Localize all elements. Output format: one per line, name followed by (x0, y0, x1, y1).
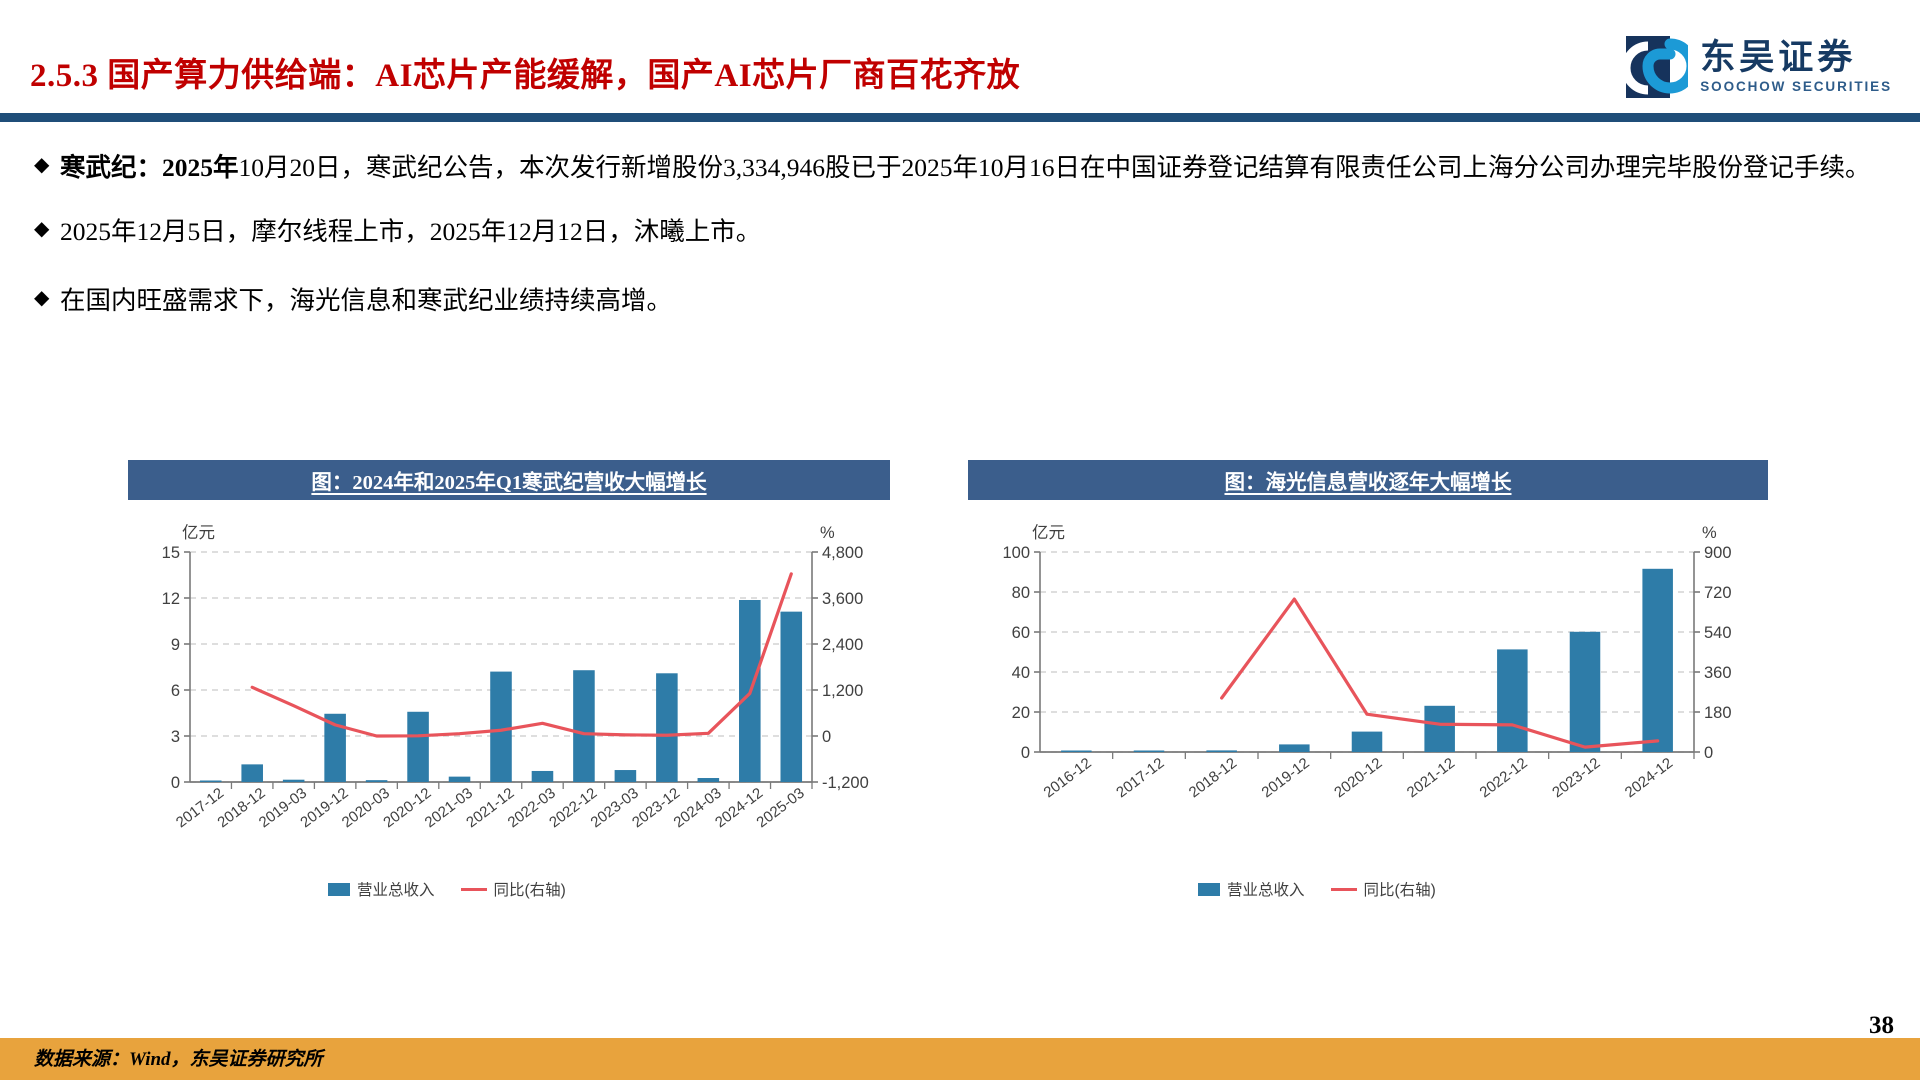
svg-text:2,400: 2,400 (822, 636, 863, 654)
bullet-item-2: ◆ 2025年12月5日，摩尔线程上市，2025年12月12日，沐曦上市。 (34, 212, 1889, 252)
footer-source: 数据来源：Wind，东吴证券研究所 (34, 1044, 323, 1071)
chart-panel-left-title: 图：2024年和2025年Q1寒武纪营收大幅增长 (311, 465, 706, 495)
diamond-bullet-icon: ◆ (34, 148, 60, 181)
svg-text:540: 540 (1704, 624, 1732, 642)
svg-text:2022-12: 2022-12 (1477, 755, 1531, 802)
header-rule (0, 113, 1920, 122)
bullet-list: ◆ 寒武纪：2025年10月20日，寒武纪公告，本次发行新增股份3,334,94… (34, 148, 1889, 345)
bullet-item-3: ◆ 在国内旺盛需求下，海光信息和寒武纪业绩持续高增。 (34, 281, 1889, 321)
legend-line-swatch-icon (461, 888, 487, 891)
svg-text:0: 0 (171, 774, 180, 792)
svg-text:2021-12: 2021-12 (1404, 755, 1458, 802)
soochow-logo-icon (1626, 36, 1688, 98)
svg-text:4,800: 4,800 (822, 544, 863, 562)
svg-text:9: 9 (171, 636, 180, 654)
svg-text:2016-12: 2016-12 (1041, 755, 1095, 802)
diamond-bullet-icon: ◆ (34, 212, 60, 245)
svg-text:0: 0 (1704, 744, 1713, 762)
legend-item-line: 同比(右轴) (1331, 878, 1436, 900)
svg-text:亿元: 亿元 (182, 523, 215, 542)
chart-right-legend: 营业总收入 同比(右轴) (1198, 878, 1436, 900)
svg-text:20: 20 (1012, 704, 1030, 722)
legend-bar-swatch-icon (1198, 883, 1220, 896)
svg-text:6: 6 (171, 682, 180, 700)
legend-bar-label: 营业总收入 (357, 878, 435, 900)
svg-text:360: 360 (1704, 664, 1732, 682)
svg-text:%: % (820, 524, 835, 542)
svg-text:%: % (1702, 524, 1717, 542)
legend-line-swatch-icon (1331, 888, 1357, 891)
diamond-bullet-icon: ◆ (34, 281, 60, 314)
svg-text:3,600: 3,600 (822, 590, 863, 608)
bullet-bold-prefix-1: 寒武纪：2025年 (60, 153, 239, 182)
chart-right-svg: 020406080100亿元0180360540720900%2016-1220… (968, 500, 1768, 930)
svg-text:-1,200: -1,200 (822, 774, 869, 792)
svg-text:180: 180 (1704, 704, 1732, 722)
chart-right-body: 020406080100亿元0180360540720900%2016-1220… (968, 500, 1768, 930)
bullet-body-1: 10月20日，寒武纪公告，本次发行新增股份3,334,946股已于2025年10… (239, 153, 1871, 182)
bullet-text-3: 在国内旺盛需求下，海光信息和寒武纪业绩持续高增。 (60, 281, 672, 321)
svg-text:60: 60 (1012, 624, 1030, 642)
svg-text:100: 100 (1002, 544, 1030, 562)
chart-left-svg: 03691215亿元-1,20001,2002,4003,6004,800%20… (128, 500, 890, 930)
bullet-item-1: ◆ 寒武纪：2025年10月20日，寒武纪公告，本次发行新增股份3,334,94… (34, 148, 1889, 188)
svg-text:2019-12: 2019-12 (1259, 755, 1313, 802)
brand-logo: 东吴证券 SOOCHOW SECURITIES (1626, 34, 1892, 100)
svg-text:900: 900 (1704, 544, 1732, 562)
svg-text:1,200: 1,200 (822, 682, 863, 700)
header-rule-gap (0, 122, 1920, 124)
chart-panel-right-title: 图：海光信息营收逐年大幅增长 (1225, 465, 1512, 495)
svg-text:2024-12: 2024-12 (1622, 755, 1676, 802)
svg-text:2017-12: 2017-12 (1113, 755, 1167, 802)
logo-english-text: SOOCHOW SECURITIES (1700, 79, 1892, 94)
svg-text:2020-12: 2020-12 (1331, 755, 1385, 802)
legend-item-bar: 营业总收入 (328, 878, 435, 900)
chart-panel-left: 图：2024年和2025年Q1寒武纪营收大幅增长 03691215亿元-1,20… (128, 460, 890, 930)
svg-text:12: 12 (162, 590, 180, 608)
chart-panel-right: 图：海光信息营收逐年大幅增长 020406080100亿元01803605407… (968, 460, 1768, 930)
page-title: 2.5.3 国产算力供给端：AI芯片产能缓解，国产AI芯片厂商百花齐放 (30, 48, 1020, 96)
svg-text:720: 720 (1704, 584, 1732, 602)
chart-panel-right-header: 图：海光信息营收逐年大幅增长 (968, 460, 1768, 500)
legend-item-bar: 营业总收入 (1198, 878, 1305, 900)
svg-text:0: 0 (1021, 744, 1030, 762)
chart-left-legend: 营业总收入 同比(右轴) (328, 878, 566, 900)
logo-chinese-text: 东吴证券 (1700, 40, 1892, 77)
chart-left-body: 03691215亿元-1,20001,2002,4003,6004,800%20… (128, 500, 890, 930)
slide-page: 2.5.3 国产算力供给端：AI芯片产能缓解，国产AI芯片厂商百花齐放 东吴证券… (0, 0, 1920, 1080)
svg-text:15: 15 (162, 544, 180, 562)
svg-text:3: 3 (171, 728, 180, 746)
legend-line-label: 同比(右轴) (1364, 878, 1436, 900)
svg-text:0: 0 (822, 728, 831, 746)
svg-text:2018-12: 2018-12 (1186, 755, 1240, 802)
legend-bar-swatch-icon (328, 883, 350, 896)
legend-item-line: 同比(右轴) (461, 878, 566, 900)
svg-text:2025-03: 2025-03 (753, 785, 807, 832)
legend-bar-label: 营业总收入 (1227, 878, 1305, 900)
page-number: 38 (1869, 1012, 1894, 1040)
svg-text:2023-12: 2023-12 (1549, 755, 1603, 802)
bullet-text-2: 2025年12月5日，摩尔线程上市，2025年12月12日，沐曦上市。 (60, 212, 761, 252)
chart-panel-left-header: 图：2024年和2025年Q1寒武纪营收大幅增长 (128, 460, 890, 500)
legend-line-label: 同比(右轴) (494, 878, 566, 900)
svg-text:80: 80 (1012, 584, 1030, 602)
bullet-text-1: 寒武纪：2025年10月20日，寒武纪公告，本次发行新增股份3,334,946股… (60, 148, 1871, 188)
svg-text:亿元: 亿元 (1032, 523, 1065, 542)
svg-text:40: 40 (1012, 664, 1030, 682)
